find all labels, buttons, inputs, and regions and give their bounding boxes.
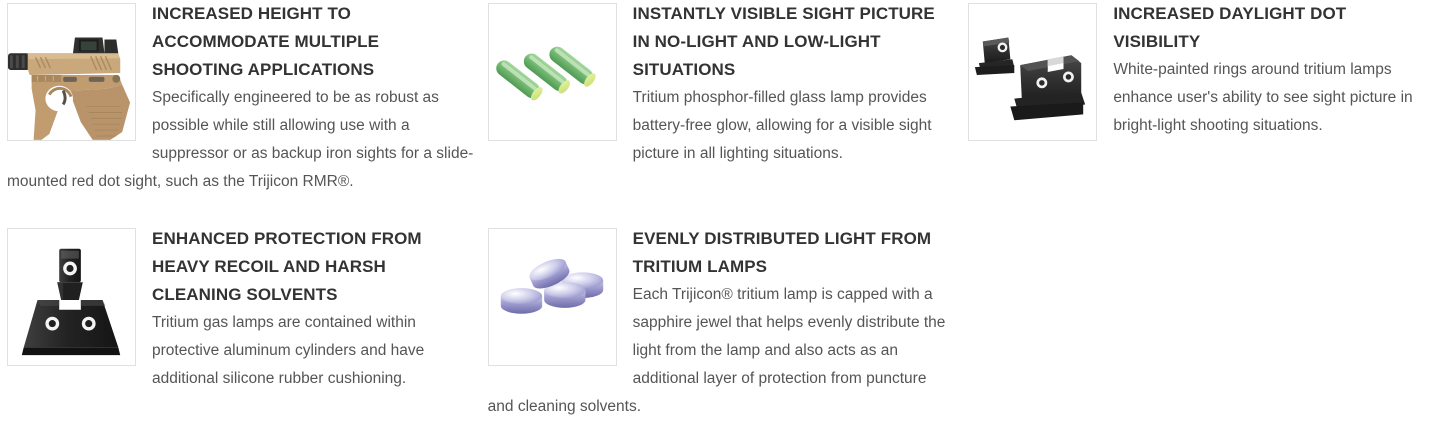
feature-card-evenly-distributed-light: EVENLY DISTRIBUTED LIGHT FROM TRITIUM LA…: [481, 225, 962, 416]
night-sights-front-view-image: [7, 228, 136, 366]
pistol-with-suppressor-and-red-dot-image: [7, 3, 136, 141]
front-and-rear-night-sights-profile-image: [968, 3, 1097, 141]
feature-card-instantly-visible-sight-picture: INSTANTLY VISIBLE SIGHT PICTURE IN NO-LI…: [481, 0, 962, 225]
green-tritium-glass-lamps-image: [488, 3, 617, 141]
feature-card-enhanced-protection: ENHANCED PROTECTION FROM HEAVY RECOIL AN…: [0, 225, 481, 416]
feature-card-increased-daylight-dot-visibility: INCREASED DAYLIGHT DOT VISIBILITY White-…: [961, 0, 1442, 225]
sapphire-jewel-discs-image: [488, 228, 617, 366]
feature-card-increased-height: INCREASED HEIGHT TO ACCOMMODATE MULTIPLE…: [0, 0, 481, 225]
feature-card-empty-slot: [961, 225, 1442, 416]
feature-grid: INCREASED HEIGHT TO ACCOMMODATE MULTIPLE…: [0, 0, 1442, 416]
